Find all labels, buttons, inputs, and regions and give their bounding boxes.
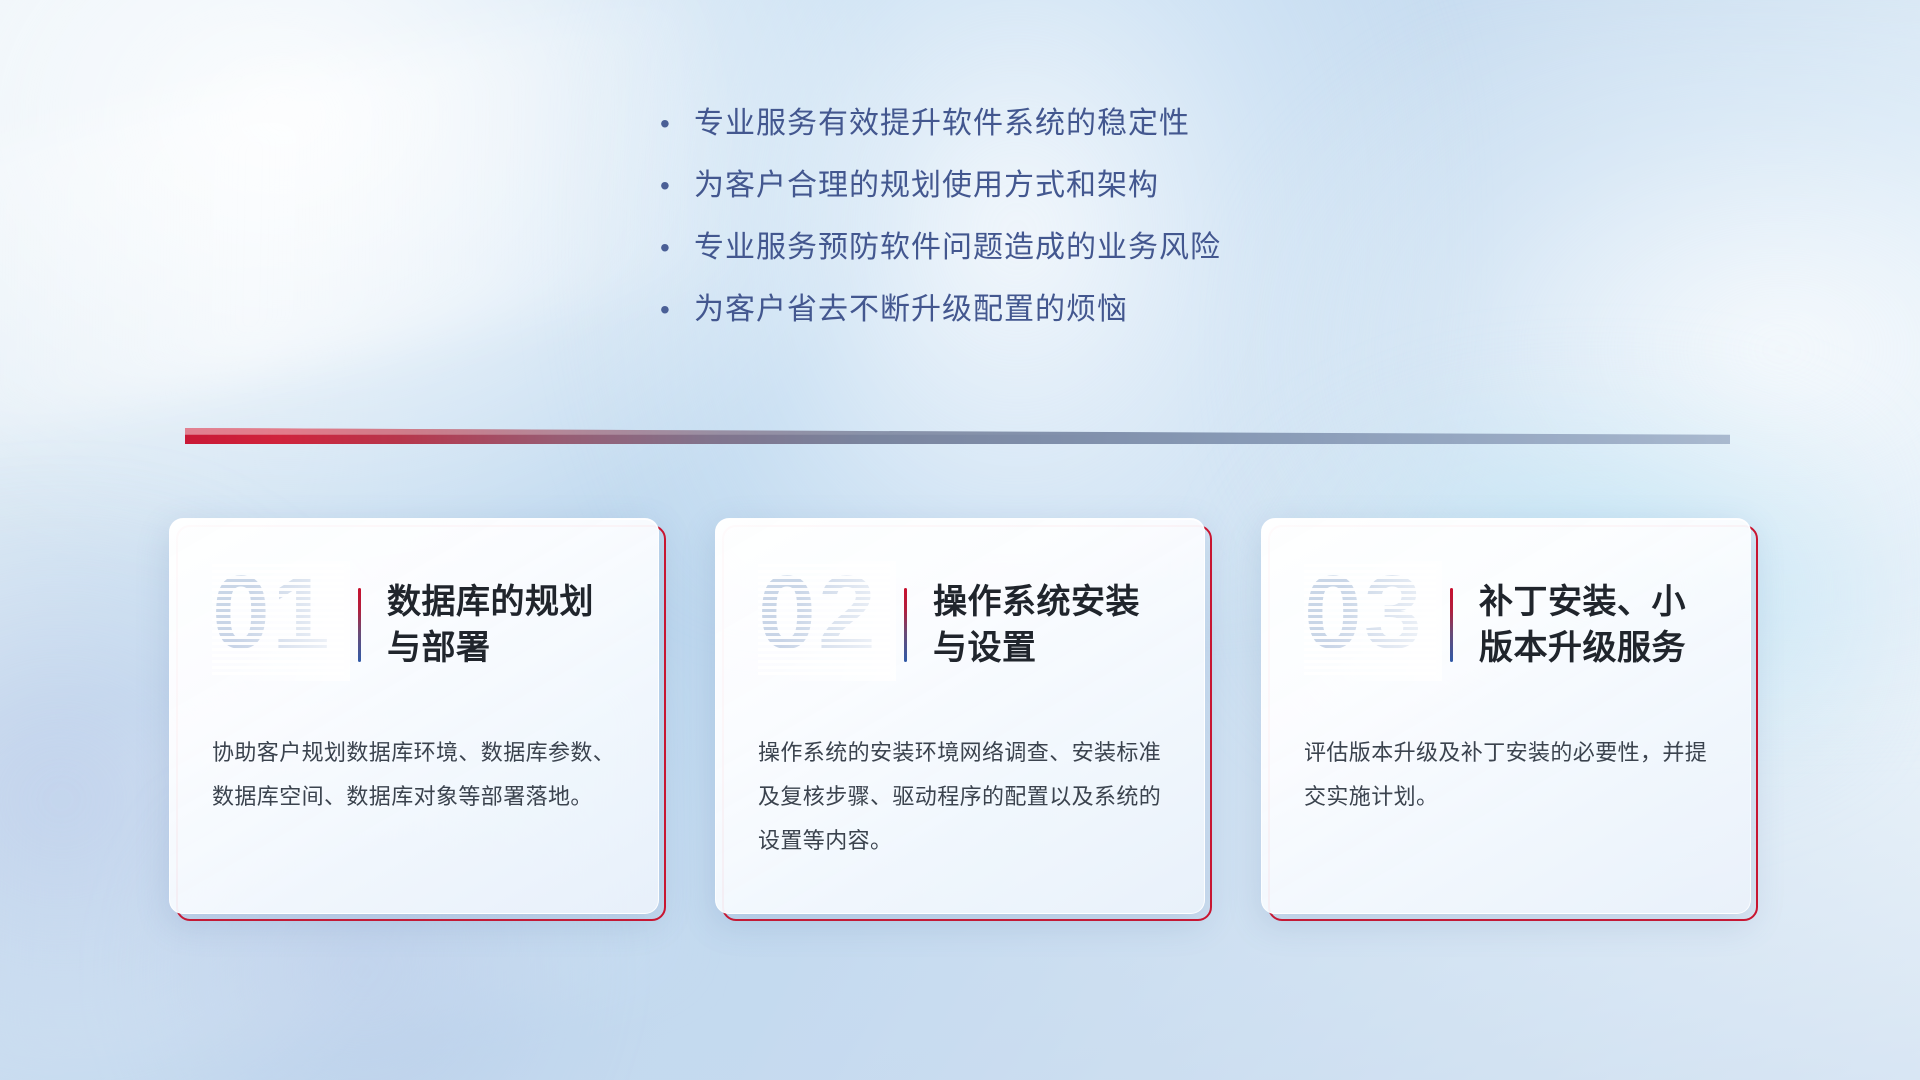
service-card[interactable]: 02 操作系统安装与设置 操作系统的安装环境网络调查、安装标准及复核步骤、驱动程… (715, 518, 1205, 914)
bullet-text: 专业服务有效提升软件系统的稳定性 (694, 104, 1190, 144)
service-card[interactable]: 01 数据库的规划与部署 协助客户规划数据库环境、数据库参数、数据库空间、数据库… (169, 518, 659, 914)
list-item: • 专业服务有效提升软件系统的稳定性 (660, 104, 1460, 144)
card-header: 01 数据库的规划与部署 (212, 565, 616, 685)
card-number-watermark: 01 (212, 573, 340, 677)
bullet-dot-icon: • (660, 104, 694, 144)
bullet-dot-icon: • (660, 290, 694, 330)
card-title: 操作系统安装与设置 (933, 579, 1162, 671)
bullet-text: 为客户省去不断升级配置的烦恼 (694, 290, 1128, 330)
card-title-divider (358, 588, 361, 662)
card-number-text: 03 (1304, 561, 1424, 665)
card-number-watermark: 03 (1304, 573, 1432, 677)
card-number-text: 01 (212, 561, 332, 665)
card-title-divider (1450, 588, 1453, 662)
card-header: 02 操作系统安装与设置 (758, 565, 1162, 685)
list-item: • 专业服务预防软件问题造成的业务风险 (660, 228, 1460, 268)
card-header: 03 补丁安装、小版本升级服务 (1304, 565, 1708, 685)
service-card[interactable]: 03 补丁安装、小版本升级服务 评估版本升级及补丁安装的必要性，并提交实施计划。 (1261, 518, 1751, 914)
list-item: • 为客户省去不断升级配置的烦恼 (660, 290, 1460, 330)
bullet-dot-icon: • (660, 228, 694, 268)
card-title: 补丁安装、小版本升级服务 (1479, 579, 1708, 671)
card-description: 操作系统的安装环境网络调查、安装标准及复核步骤、驱动程序的配置以及系统的设置等内… (758, 731, 1162, 863)
card-body: 02 操作系统安装与设置 操作系统的安装环境网络调查、安装标准及复核步骤、驱动程… (715, 518, 1205, 914)
card-title: 数据库的规划与部署 (387, 579, 616, 671)
card-description: 协助客户规划数据库环境、数据库参数、数据库空间、数据库对象等部署落地。 (212, 731, 616, 819)
card-number-text: 02 (758, 561, 878, 665)
bullet-text: 专业服务预防软件问题造成的业务风险 (694, 228, 1221, 268)
benefits-bullet-list: • 专业服务有效提升软件系统的稳定性 • 为客户合理的规划使用方式和架构 • 专… (660, 104, 1460, 352)
bullet-dot-icon: • (660, 166, 694, 206)
bullet-text: 为客户合理的规划使用方式和架构 (694, 166, 1159, 206)
slide-content: • 专业服务有效提升软件系统的稳定性 • 为客户合理的规划使用方式和架构 • 专… (0, 0, 1920, 1080)
section-divider (185, 428, 1730, 444)
card-number-watermark: 02 (758, 573, 886, 677)
card-title-divider (904, 588, 907, 662)
card-description: 评估版本升级及补丁安装的必要性，并提交实施计划。 (1304, 731, 1708, 819)
list-item: • 为客户合理的规划使用方式和架构 (660, 166, 1460, 206)
card-body: 01 数据库的规划与部署 协助客户规划数据库环境、数据库参数、数据库空间、数据库… (169, 518, 659, 914)
card-body: 03 补丁安装、小版本升级服务 评估版本升级及补丁安装的必要性，并提交实施计划。 (1261, 518, 1751, 914)
service-card-group: 01 数据库的规划与部署 协助客户规划数据库环境、数据库参数、数据库空间、数据库… (0, 518, 1920, 914)
divider-highlight (185, 428, 1730, 435)
